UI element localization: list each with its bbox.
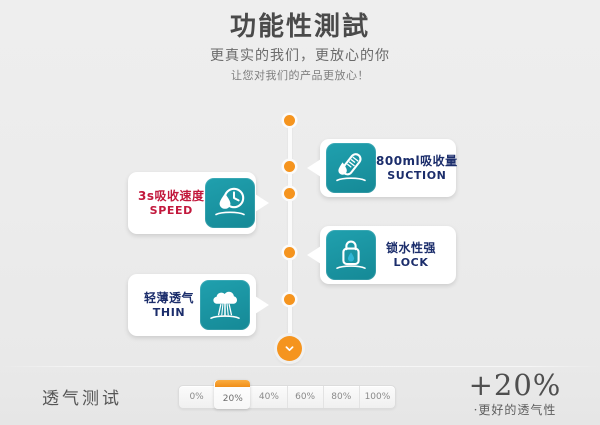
breathability-scale[interactable]: 0% 20% 40% 60% 80% 100% bbox=[178, 385, 396, 409]
breathability-test-label: 透气测试 bbox=[42, 384, 122, 409]
timeline-dot-5[interactable] bbox=[284, 294, 295, 305]
timeline-track bbox=[288, 118, 292, 346]
timeline-end-button[interactable] bbox=[277, 336, 302, 361]
header: 功能性測試 更真实的我们，更放心的你 让您对我们的产品更放心！ bbox=[0, 10, 600, 85]
chevron-down-icon bbox=[283, 342, 296, 355]
badge-suction-text: 800ml吸收量 SUCTION bbox=[376, 154, 458, 182]
timeline-dot-2[interactable] bbox=[284, 161, 295, 172]
scale-segment-40[interactable]: 40% bbox=[250, 386, 286, 408]
section-divider bbox=[0, 366, 600, 367]
badge-suction-tail bbox=[307, 159, 321, 177]
feature-badge-lock[interactable]: 锁水性强 LOCK bbox=[320, 226, 456, 284]
header-subtitle-primary: 更真实的我们，更放心的你 bbox=[0, 46, 600, 67]
badge-lock-tail bbox=[307, 246, 321, 264]
badge-thin-label-cn: 轻薄透气 bbox=[144, 291, 194, 306]
badge-speed-tail bbox=[255, 194, 269, 212]
scale-segment-20[interactable]: 20% bbox=[214, 380, 250, 409]
timeline-dot-4[interactable] bbox=[284, 247, 295, 258]
result-caption: ·更好的透气性 bbox=[440, 401, 590, 419]
page-title: 功能性測試 bbox=[0, 10, 600, 44]
badge-suction-label-en: SUCTION bbox=[387, 169, 446, 182]
scale-segment-80[interactable]: 80% bbox=[323, 386, 359, 408]
infographic-page: 功能性測試 更真实的我们，更放心的你 让您对我们的产品更放心！ 3s吸收速度 S… bbox=[0, 0, 600, 425]
feature-badge-suction[interactable]: 800ml吸收量 SUCTION bbox=[320, 139, 456, 197]
badge-suction-label-cn: 800ml吸收量 bbox=[376, 154, 458, 169]
badge-lock-text: 锁水性强 LOCK bbox=[376, 241, 446, 269]
timeline-dot-1[interactable] bbox=[284, 115, 295, 126]
badge-thin-label-en: THIN bbox=[153, 306, 185, 319]
timeline-dot-3[interactable] bbox=[284, 188, 295, 199]
badge-lock-label-cn: 锁水性强 bbox=[386, 241, 436, 256]
badge-speed-label-en: SPEED bbox=[150, 204, 193, 217]
feature-badge-thin[interactable]: 轻薄透气 THIN bbox=[128, 274, 256, 336]
padlock-droplet-icon bbox=[326, 230, 376, 280]
scale-segment-0[interactable]: 0% bbox=[179, 386, 214, 408]
badge-speed-text: 3s吸收速度 SPEED bbox=[138, 189, 205, 217]
result-value: +20% bbox=[440, 369, 590, 401]
badge-lock-label-en: LOCK bbox=[394, 256, 429, 269]
cloud-airflow-icon bbox=[200, 280, 250, 330]
scale-segment-100[interactable]: 100% bbox=[359, 386, 395, 408]
clock-droplet-icon bbox=[205, 178, 255, 228]
test-tube-droplet-icon bbox=[326, 143, 376, 193]
feature-badge-speed[interactable]: 3s吸收速度 SPEED bbox=[128, 172, 256, 234]
scale-segment-60[interactable]: 60% bbox=[287, 386, 323, 408]
result-block: +20% ·更好的透气性 bbox=[440, 369, 590, 419]
header-subtitle-secondary: 让您对我们的产品更放心！ bbox=[0, 67, 600, 85]
badge-thin-tail bbox=[255, 296, 269, 314]
badge-thin-text: 轻薄透气 THIN bbox=[138, 291, 200, 319]
badge-speed-label-cn: 3s吸收速度 bbox=[138, 189, 205, 204]
